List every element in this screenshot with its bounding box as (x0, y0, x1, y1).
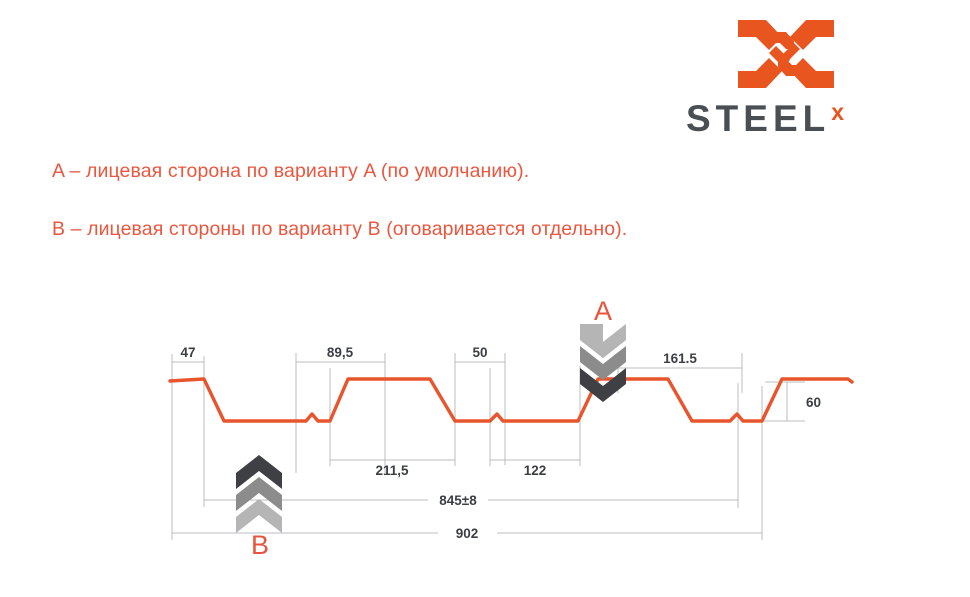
dim-label-902: 902 (456, 526, 479, 541)
dim-label-47: 47 (180, 345, 195, 360)
dim-label-211-5: 211,5 (375, 463, 409, 478)
page-root: STEEL x A – лицевая сторона по варианту … (0, 0, 970, 597)
dim-label-845: 845±8 (439, 493, 477, 508)
profile-technical-drawing: 47 89,5 50 161.5 211,5 122 845±8 902 60 … (0, 258, 970, 558)
dim-label-161-5: 161.5 (663, 351, 697, 366)
marker-a-letter: A (594, 296, 612, 326)
steelx-logo-x-mark-icon (736, 16, 836, 92)
marker-b-letter: B (251, 530, 269, 558)
marker-a: A (580, 296, 626, 402)
wordmark-superscript-x: x (831, 101, 844, 124)
brand-logo: STEEL x (686, 16, 886, 144)
caption-variant-a: A – лицевая сторона по варианту A (по ум… (52, 160, 529, 183)
brand-wordmark: STEEL x (686, 100, 886, 140)
profile-outline (170, 379, 852, 421)
dim-label-60: 60 (806, 395, 821, 410)
dim-label-122: 122 (524, 463, 547, 478)
dim-label-50: 50 (472, 345, 487, 360)
marker-b: B (236, 455, 282, 558)
dim-label-89-5: 89,5 (327, 345, 354, 360)
wordmark-steel: STEEL (686, 100, 830, 137)
caption-variant-b: B – лицевая стороны по варианту B (огова… (52, 218, 627, 241)
